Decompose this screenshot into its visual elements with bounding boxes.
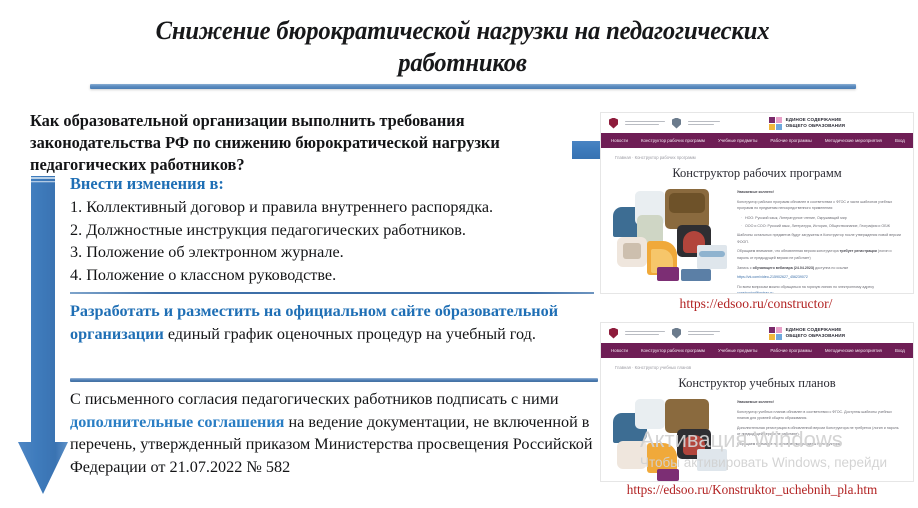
shot2-body: Уважаемые коллеги! Конструктор учебных п… bbox=[601, 391, 913, 482]
shot1-contact-mail[interactable]: constructor@instrao.ru bbox=[737, 291, 773, 294]
shot1-record: Запись с обучающего вебинара (24.04.2023… bbox=[737, 265, 903, 271]
nav-login-link[interactable]: Вход bbox=[895, 138, 905, 143]
nav-item-news[interactable]: Новости bbox=[611, 138, 628, 143]
screenshot-constructor-programs[interactable]: ЕДИНОЕ СОДЕРЖАНИЕ ОБЩЕГО ОБРАЗОВАНИЯ Нов… bbox=[600, 112, 914, 294]
constructor-url-label[interactable]: https://edsoo.ru/constructor/ bbox=[596, 296, 916, 312]
nav-item-subjects[interactable]: Учебные предметы bbox=[718, 138, 757, 143]
paragraph-agreements: С письменного согласия педагогических ра… bbox=[70, 388, 610, 479]
shot2-attention: Обращаем внимание на обновленные разделы… bbox=[737, 441, 903, 447]
down-arrow-icon bbox=[18, 172, 70, 497]
nav-item-programs[interactable]: Рабочие программы bbox=[770, 138, 811, 143]
list-item: НОО: Русский язык, Литературное чтение, … bbox=[742, 215, 903, 221]
divider-rule-2 bbox=[70, 378, 598, 382]
nav-item-constructor[interactable]: Конструктор рабочих программ bbox=[641, 348, 705, 353]
slide-root: Снижение бюрократической нагрузки на пед… bbox=[0, 0, 918, 508]
screenshot-constructor-plans[interactable]: ЕДИНОЕ СОДЕРЖАНИЕ ОБЩЕГО ОБРАЗОВАНИЯ Нов… bbox=[600, 322, 914, 482]
shot1-body: Уважаемые коллеги! Конструктор рабочих п… bbox=[601, 181, 913, 294]
site-header: ЕДИНОЕ СОДЕРЖАНИЕ ОБЩЕГО ОБРАЗОВАНИЯ bbox=[601, 113, 913, 133]
list-item: 4. Положение о классном руководстве. bbox=[70, 264, 590, 287]
shot2-text: Уважаемые коллеги! Конструктор учебных п… bbox=[737, 399, 903, 482]
list-item: ООО и СОО: Русский язык, Литература, Ист… bbox=[742, 223, 903, 229]
shot1-templates: Шаблоны остальных предметов будут загруж… bbox=[737, 232, 903, 245]
title-underline-rule bbox=[90, 84, 856, 89]
nav-item-programs[interactable]: Рабочие программы bbox=[770, 348, 811, 353]
paragraph-agreements-highlight: дополнительные соглашения bbox=[70, 413, 284, 431]
site-navbar-2[interactable]: Новости Конструктор рабочих программ Уче… bbox=[601, 343, 913, 358]
institute-crest-icon bbox=[672, 118, 681, 129]
nav-item-events[interactable]: Методические мероприятия bbox=[825, 138, 882, 143]
brand-logo-icon bbox=[769, 117, 782, 130]
institute-label bbox=[688, 121, 720, 126]
shot1-attention: Обращаем внимание, что обновленная верси… bbox=[737, 248, 903, 261]
paragraph-schedule: Разработать и разместить на официальном … bbox=[70, 300, 590, 346]
list-item: 3. Положение об электронном журнале. bbox=[70, 241, 590, 264]
site-brand-2: ЕДИНОЕ СОДЕРЖАНИЕ ОБЩЕГО ОБРАЗОВАНИЯ bbox=[769, 327, 845, 340]
changes-list: 1. Коллективный договор и правила внутре… bbox=[70, 196, 590, 287]
brand-text: ЕДИНОЕ СОДЕРЖАНИЕ ОБЩЕГО ОБРАЗОВАНИЯ bbox=[786, 117, 845, 128]
shot1-record-a: Запись с bbox=[737, 266, 753, 270]
list-item: 2. Должностные инструкция педагогических… bbox=[70, 219, 590, 242]
site-brand: ЕДИНОЕ СОДЕРЖАНИЕ ОБЩЕГО ОБРАЗОВАНИЯ bbox=[769, 117, 845, 130]
ministry-crest-icon bbox=[609, 328, 618, 339]
shot1-attention-a: Обращаем внимание, что обновленная верси… bbox=[737, 249, 840, 253]
nav-item-news[interactable]: Новости bbox=[611, 348, 628, 353]
institute-label bbox=[688, 331, 720, 336]
shot1-bullets: НОО: Русский язык, Литературное чтение, … bbox=[737, 215, 903, 229]
shot2-heading: Конструктор учебных планов bbox=[601, 376, 913, 391]
plans-url-label[interactable]: https://edsoo.ru/Konstruktor_uchebnih_pl… bbox=[592, 482, 912, 498]
shot1-record-c: доступна по ссылке bbox=[814, 266, 848, 270]
shot1-attention-b: требует регистрации bbox=[840, 249, 877, 253]
shot2-intro: Конструктор учебных планов обновлен в со… bbox=[737, 409, 903, 422]
brand-text-2: ЕДИНОЕ СОДЕРЖАНИЕ ОБЩЕГО ОБРАЗОВАНИЯ bbox=[786, 327, 845, 338]
shot2-more: Дополнительная регистрация в обновленной… bbox=[737, 425, 903, 438]
breadcrumb: Главная · Конструктор рабочих программ bbox=[601, 148, 913, 160]
shot1-record-b: обучающего вебинара (24.04.2023) bbox=[753, 266, 814, 270]
paragraph-agreements-a: С письменного согласия педагогических ра… bbox=[70, 390, 559, 408]
ministry-crest-icon bbox=[609, 118, 618, 129]
ministry-label bbox=[625, 331, 665, 336]
shot1-contact: По всем вопросам можно обращаться на гор… bbox=[737, 284, 903, 294]
breadcrumb-2: Главная · Конструктор учебных планов bbox=[601, 358, 913, 370]
nav-item-subjects[interactable]: Учебные предметы bbox=[718, 348, 757, 353]
shot1-intro: Конструктор рабочих программ обновлен в … bbox=[737, 199, 903, 212]
image-collage-2 bbox=[613, 399, 731, 482]
ministry-label bbox=[625, 121, 665, 126]
site-navbar[interactable]: Новости Конструктор рабочих программ Уче… bbox=[601, 133, 913, 148]
list-item: 1. Коллективный договор и правила внутре… bbox=[70, 196, 590, 219]
nav-right-group[interactable]: Вход bbox=[895, 137, 914, 144]
page-title: Снижение бюрократической нагрузки на пед… bbox=[84, 14, 842, 79]
page-title-wrap: Снижение бюрократической нагрузки на пед… bbox=[55, 14, 870, 79]
institute-crest-icon bbox=[672, 328, 681, 339]
shot2-greeting: Уважаемые коллеги! bbox=[737, 399, 903, 405]
nav-login-link[interactable]: Вход bbox=[895, 348, 905, 353]
nav-item-constructor[interactable]: Конструктор рабочих программ bbox=[641, 138, 705, 143]
paragraph-schedule-rest: единый график оценочных процедур на учеб… bbox=[164, 325, 536, 343]
brand-line-2: ОБЩЕГО ОБРАЗОВАНИЯ bbox=[786, 333, 845, 339]
nav-item-events[interactable]: Методические мероприятия bbox=[825, 348, 882, 353]
shot1-heading: Конструктор рабочих программ bbox=[601, 166, 913, 181]
site-header-2: ЕДИНОЕ СОДЕРЖАНИЕ ОБЩЕГО ОБРАЗОВАНИЯ bbox=[601, 323, 913, 343]
subheading-changes: Внести изменения в: bbox=[70, 174, 570, 194]
image-collage bbox=[613, 189, 731, 281]
nav-right-group-2[interactable]: Вход bbox=[895, 347, 914, 354]
divider-rule-1 bbox=[70, 292, 594, 294]
question-text: Как образовательной организации выполнит… bbox=[30, 110, 570, 175]
shot1-contact-text: По всем вопросам можно обращаться на гор… bbox=[737, 285, 874, 289]
brand-line-2: ОБЩЕГО ОБРАЗОВАНИЯ bbox=[786, 123, 845, 129]
shot1-greeting: Уважаемые коллеги! bbox=[737, 189, 903, 195]
shot1-record-link[interactable]: https://vk.com/video-215902627_456239072 bbox=[737, 274, 903, 280]
shot1-text: Уважаемые коллеги! Конструктор рабочих п… bbox=[737, 189, 903, 294]
brand-logo-icon bbox=[769, 327, 782, 340]
